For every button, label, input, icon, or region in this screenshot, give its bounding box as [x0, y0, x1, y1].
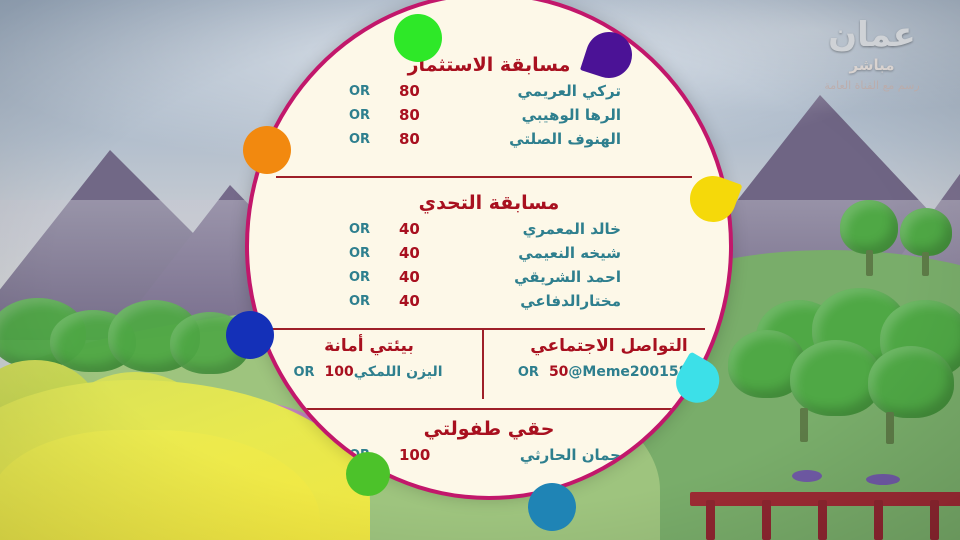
entry-currency: OR [349, 222, 383, 237]
entry-amount: 100 [315, 364, 354, 380]
entry-currency: OR [349, 294, 383, 309]
entry-currency: OR [349, 108, 383, 123]
section-environment: بيئتي أمانة اليزن اللمكي 100 OR [249, 336, 489, 380]
entry-currency: OR [349, 270, 383, 285]
table-row: خالد المعمري 40 OR [249, 220, 729, 238]
section-divider [286, 408, 686, 410]
green-dot-bottom [346, 452, 390, 496]
entry-amount: 100 [383, 446, 451, 464]
entry-currency: OR [349, 132, 383, 147]
entry-name: تركي العريمي [451, 82, 629, 100]
entry-name: مختارالدفاعي [451, 292, 629, 310]
logo-tagline: رسم مع القناة العامة [802, 79, 942, 92]
entry-name: الهنوف الصلتي [451, 130, 629, 148]
table-row: تركي العريمي 80 OR [249, 82, 729, 100]
blue-dot-left [226, 311, 274, 359]
table-row: جمان الحارثي 100 OR [249, 446, 729, 464]
entry-currency: OR [514, 365, 539, 380]
entry-amount: 40 [383, 244, 451, 262]
green-dot-top [394, 14, 442, 62]
section-title: بيئتي أمانة [249, 336, 489, 356]
entry-currency: OR [349, 84, 383, 99]
entry-name: شيخه النعيمي [451, 244, 629, 262]
entry-amount: 40 [383, 292, 451, 310]
section-title: مسابقة التحدي [249, 192, 729, 214]
teal-dot-bottom [528, 483, 576, 531]
section-divider [276, 176, 692, 178]
entry-currency: OR [289, 365, 314, 380]
entry-name: جمان الحارثي [451, 446, 629, 464]
table-row: الرها الوهيبي 80 OR [249, 106, 729, 124]
entry-name: الرها الوهيبي [451, 106, 629, 124]
orange-dot-left [243, 126, 291, 174]
section-title: مسابقة الاستثمار [249, 54, 729, 76]
broadcast-screen: عمان مباشر رسم مع القناة العامة مسابقة ا… [0, 0, 960, 540]
entry-amount: 40 [383, 268, 451, 286]
entry-currency: OR [349, 246, 383, 261]
column-divider [482, 329, 484, 399]
table-row: شيخه النعيمي 40 OR [249, 244, 729, 262]
results-panel-content: مسابقة الاستثمار تركي العريمي 80 OR الره… [249, 0, 729, 496]
entry-amount: 80 [383, 106, 451, 124]
section-investment: مسابقة الاستثمار تركي العريمي 80 OR الره… [249, 54, 729, 148]
table-row: الهنوف الصلتي 80 OR [249, 130, 729, 148]
entry-name: اليزن اللمكي [354, 364, 449, 380]
section-divider [269, 328, 705, 330]
section-childhood-right: حقي طفولتي جمان الحارثي 100 OR [249, 418, 729, 464]
logo-live-label: مباشر [802, 56, 942, 74]
table-row: احمد الشريقي 40 OR [249, 268, 729, 286]
entry-amount: 50 [539, 364, 568, 380]
section-title: حقي طفولتي [249, 418, 729, 440]
channel-logo: عمان مباشر رسم مع القناة العامة [802, 18, 942, 92]
table-row: اليزن اللمكي 100 OR [249, 364, 489, 380]
entry-name: احمد الشريقي [451, 268, 629, 286]
results-panel: مسابقة الاستثمار تركي العريمي 80 OR الره… [245, 0, 733, 500]
entry-name: خالد المعمري [451, 220, 629, 238]
logo-channel-name: عمان [802, 18, 942, 52]
entry-amount: 80 [383, 130, 451, 148]
section-split: بيئتي أمانة اليزن اللمكي 100 OR التواصل … [249, 336, 729, 380]
entry-amount: 40 [383, 220, 451, 238]
section-challenge: مسابقة التحدي خالد المعمري 40 OR شيخه ال… [249, 192, 729, 310]
entry-amount: 80 [383, 82, 451, 100]
table-row: مختارالدفاعي 40 OR [249, 292, 729, 310]
